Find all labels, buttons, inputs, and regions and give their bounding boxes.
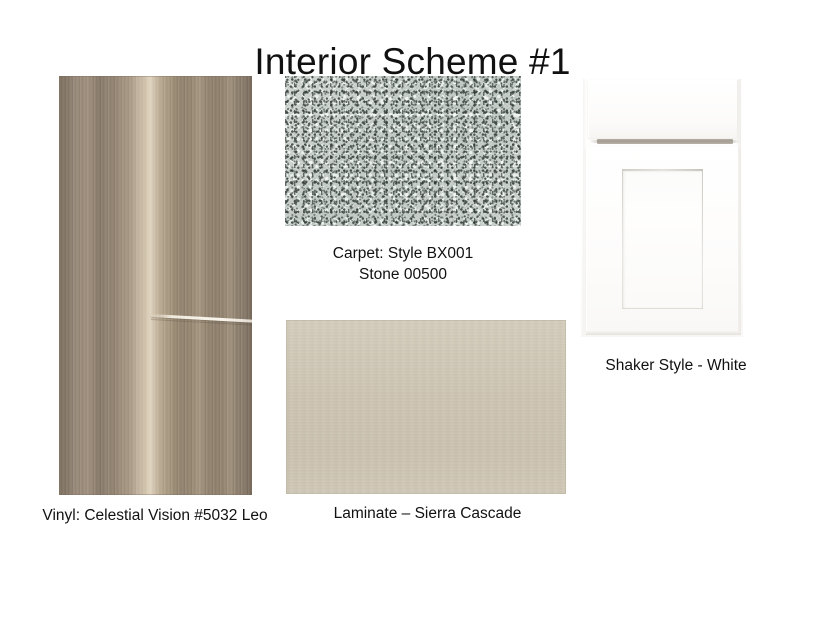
cabinet-panel-right-edge	[702, 169, 703, 309]
vinyl-plank-swatch[interactable]	[59, 76, 252, 495]
cabinet-panel-bottom-edge	[622, 308, 703, 309]
vinyl-caption: Vinyl: Celestial Vision #5032 Leo	[10, 505, 300, 526]
interior-scheme-board: Interior Scheme #1 Vinyl: Celestial Visi…	[0, 0, 825, 619]
laminate-swatch[interactable]	[286, 320, 566, 494]
cabinet-drawer-front	[588, 80, 738, 138]
cabinet-caption: Shaker Style - White	[572, 355, 780, 376]
laminate-caption: Laminate – Sierra Cascade	[300, 503, 555, 524]
cabinet-recessed-panel	[622, 169, 703, 309]
carpet-swatch[interactable]	[285, 76, 521, 226]
carpet-caption: Carpet: Style BX001 Stone 00500	[282, 243, 524, 285]
cabinet-bottom-edge	[586, 331, 741, 335]
cabinet-panel-top-edge	[622, 169, 703, 171]
cabinet-reveal-gap	[597, 139, 733, 144]
cabinet-panel-left-edge	[622, 169, 623, 309]
